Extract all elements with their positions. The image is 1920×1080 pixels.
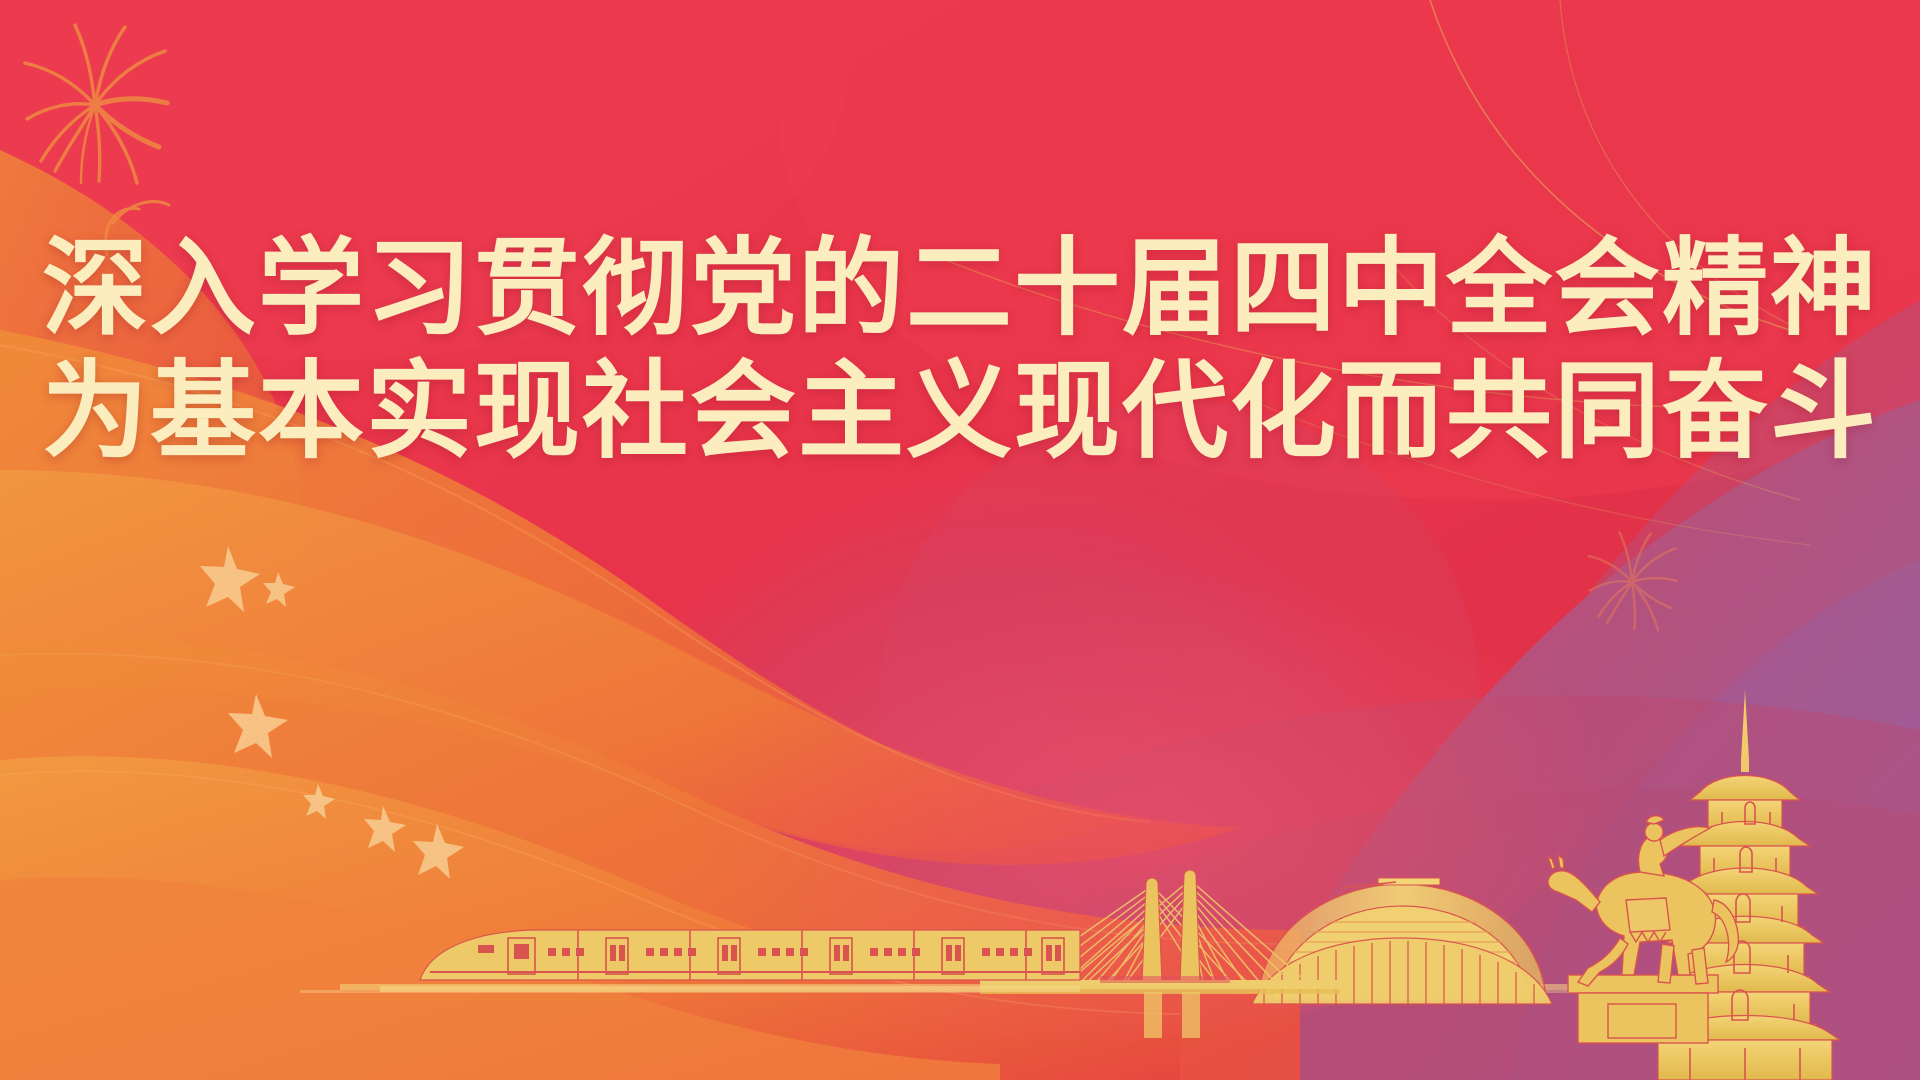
banner-poster: 深入学习贯彻党的二十届四中全会精神 为基本实现社会主义现代化而共同奋斗: [0, 0, 1920, 1080]
skyline-layer: [0, 0, 1920, 1080]
